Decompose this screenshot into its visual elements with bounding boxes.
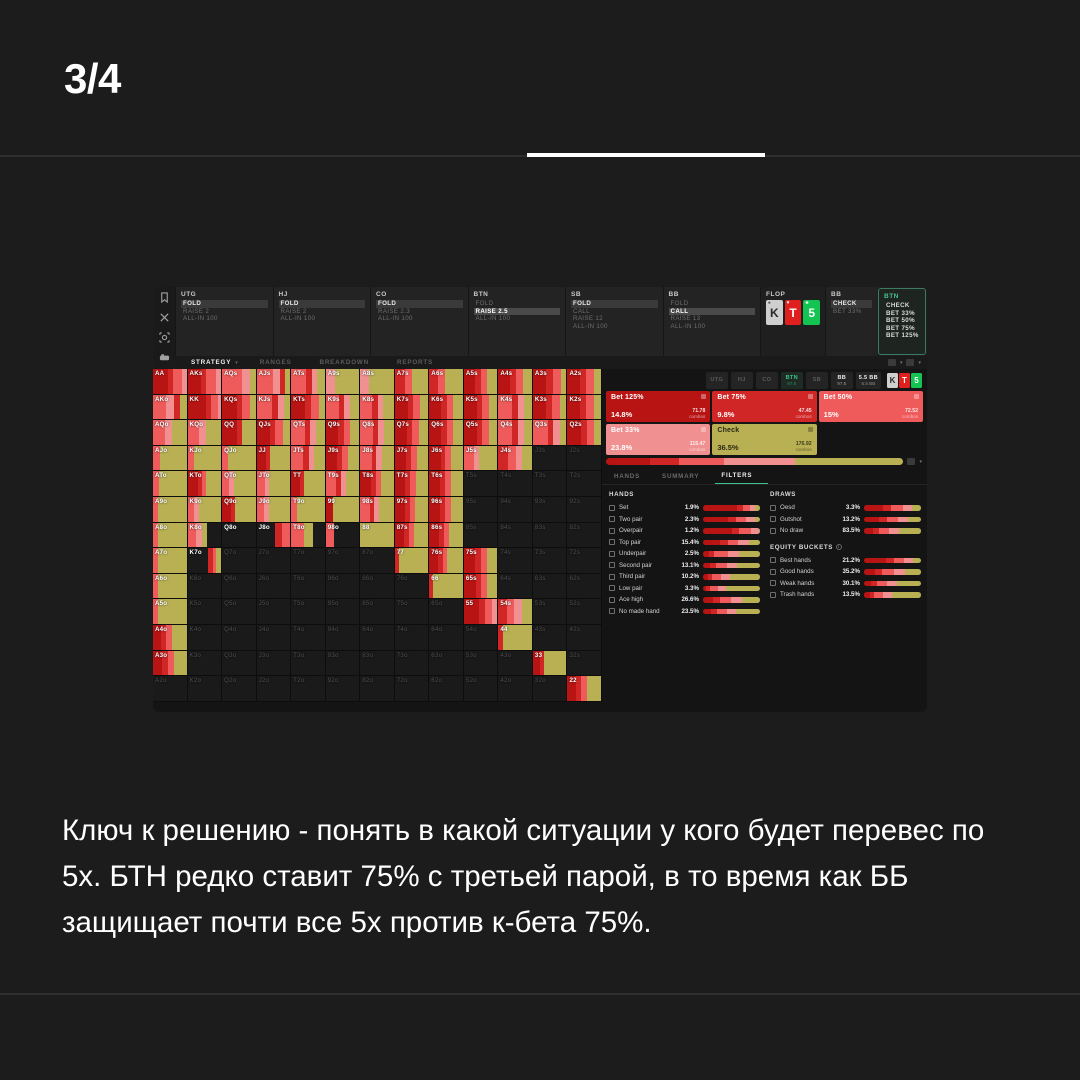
matrix-cell[interactable]: T7o (291, 548, 326, 574)
matrix-cell[interactable]: 86s (429, 523, 464, 549)
filter-row[interactable]: Underpair2.5% (609, 548, 760, 560)
action-option[interactable]: ALL-IN 100 (669, 323, 756, 331)
matrix-cell[interactable]: 74o (395, 625, 430, 651)
lock-icon[interactable] (914, 394, 919, 399)
matrix-cell[interactable]: T2s (567, 471, 602, 497)
matrix-cell[interactable]: J5s (464, 446, 499, 472)
tab-breakdown[interactable]: BREAKDOWN (305, 359, 383, 366)
matrix-cell[interactable]: A5s (464, 369, 499, 395)
action-column-title: UTG (181, 291, 268, 298)
matrix-cell[interactable]: ATo (153, 471, 188, 497)
matrix-cell[interactable]: 87o (360, 548, 395, 574)
matrix-cell[interactable]: Q4s (498, 420, 533, 446)
matrix-cell[interactable]: 33 (533, 651, 568, 677)
action-option[interactable]: RAISE 2.5 (474, 308, 561, 316)
matrix-cell[interactable]: J6s (429, 446, 464, 472)
matrix-cell[interactable]: 72s (567, 548, 602, 574)
action-option[interactable]: BET 33% (831, 308, 872, 316)
filter-label: Gutshot (780, 516, 832, 523)
matrix-cell[interactable]: 95s (464, 497, 499, 523)
position-hj[interactable]: HJ (731, 372, 753, 389)
checkbox[interactable] (609, 608, 615, 614)
matrix-cell[interactable]: 43o (498, 651, 533, 677)
matrix-cell[interactable]: 98s (360, 497, 395, 523)
matrix-cell-label: T4s (500, 472, 511, 479)
matrix-cell[interactable]: 66 (429, 574, 464, 600)
matrix-cell[interactable]: J7s (395, 446, 430, 472)
suit-icon: ♠ (768, 301, 771, 306)
filter-row[interactable]: Gutshot13.2% (770, 514, 921, 526)
matrix-cell[interactable]: 42o (498, 676, 533, 702)
action-option[interactable]: CHECK (884, 302, 920, 310)
position-5.5-bb[interactable]: 5.5 BB5.5 BB (856, 372, 881, 389)
matrix-cell[interactable]: J3o (257, 651, 292, 677)
bookmark-icon[interactable] (159, 292, 170, 303)
matrix-cell-label: 87s (397, 524, 408, 531)
checkbox[interactable] (609, 551, 615, 557)
matrix-cell[interactable]: 53s (533, 599, 568, 625)
hand-matrix[interactable]: AAAKsAQsAJsATsA9sA8sA7sA6sA5sA4sA3sA2sAK… (153, 369, 602, 702)
matrix-cell[interactable]: 52s (567, 599, 602, 625)
matrix-cell[interactable]: ATs (291, 369, 326, 395)
matrix-cell[interactable]: K4s (498, 395, 533, 421)
matrix-cell[interactable]: 84s (498, 523, 533, 549)
chevron-down-icon[interactable]: ▾ (900, 360, 903, 366)
strategy-block-bet50[interactable]: Bet 50%15%72.52combos (819, 391, 923, 422)
action-column-utg[interactable]: UTGFOLDRAISE 2ALL-IN 100 (175, 287, 273, 356)
footer-divider (0, 993, 1080, 995)
matrix-cell[interactable]: 72o (395, 676, 430, 702)
matrix-cell[interactable]: A8o (153, 523, 188, 549)
matrix-cell[interactable]: T2o (291, 676, 326, 702)
checkbox[interactable] (609, 562, 615, 568)
matrix-cell[interactable]: K6o (188, 574, 223, 600)
matrix-cell[interactable]: K3s (533, 395, 568, 421)
matrix-cell[interactable]: Q4o (222, 625, 257, 651)
action-option[interactable]: BET 125% (884, 332, 920, 340)
action-option[interactable]: ALL-IN 100 (571, 323, 658, 331)
lock-icon[interactable] (808, 427, 813, 432)
matrix-cell[interactable]: T7s (395, 471, 430, 497)
matrix-cell[interactable]: TT (291, 471, 326, 497)
matrix-cell[interactable]: K3o (188, 651, 223, 677)
action-column-hj[interactable]: HJFOLDRAISE 2ALL-IN 100 (273, 287, 371, 356)
view-mode-icon[interactable] (906, 359, 914, 366)
matrix-cell[interactable]: 32o (533, 676, 568, 702)
filters-hands-header: HANDS (609, 491, 760, 498)
filter-row[interactable]: No draw83.5% (770, 525, 921, 537)
matrix-cell[interactable]: Q9s (326, 420, 361, 446)
matrix-cell[interactable]: A2o (153, 676, 188, 702)
matrix-cell[interactable]: T9o (291, 497, 326, 523)
position-btn[interactable]: BTN97.5 (781, 372, 803, 389)
matrix-cell[interactable]: KQo (188, 420, 223, 446)
chevron-down-icon[interactable]: ▾ (918, 360, 921, 366)
matrix-cell[interactable]: T5o (291, 599, 326, 625)
grid-view-icon[interactable] (907, 458, 915, 465)
matrix-cell[interactable]: A5o (153, 599, 188, 625)
action-column-bb2[interactable]: BB CHECK BET 33% (825, 287, 877, 356)
target-icon[interactable] (159, 332, 170, 343)
action-option[interactable]: CHECK (831, 300, 872, 308)
matrix-cell[interactable]: 86o (360, 574, 395, 600)
matrix-cell[interactable]: A8s (360, 369, 395, 395)
matrix-cell[interactable]: 64s (498, 574, 533, 600)
matrix-cell[interactable]: A9o (153, 497, 188, 523)
checkbox[interactable] (609, 574, 615, 580)
matrix-cell[interactable]: Q9o (222, 497, 257, 523)
lock-icon[interactable] (808, 394, 813, 399)
gamepad-icon[interactable] (159, 352, 170, 363)
filter-row[interactable]: No made hand23.5% (609, 606, 760, 618)
filter-row[interactable]: Two pair2.3% (609, 514, 760, 526)
matrix-cell[interactable]: JTs (291, 446, 326, 472)
matrix-cell[interactable]: QTo (222, 471, 257, 497)
action-option[interactable]: FOLD (279, 300, 366, 308)
combos-unit: combos (689, 414, 705, 419)
matrix-cell[interactable]: QJo (222, 446, 257, 472)
filter-row[interactable]: Oesd3.3% (770, 502, 921, 514)
matrix-cell[interactable]: 83o (360, 651, 395, 677)
action-option[interactable]: FOLD (181, 300, 268, 308)
matrix-cell[interactable]: J3s (533, 446, 568, 472)
info-icon[interactable]: i (836, 544, 842, 550)
main-tabbar: STRATEGY ▾ RANGES BREAKDOWN REPORTS ▾ ▾ (153, 356, 927, 369)
matrix-cell[interactable]: 92s (567, 497, 602, 523)
matrix-cell[interactable]: A9s (326, 369, 361, 395)
position-co[interactable]: CO (756, 372, 778, 389)
action-column-bb[interactable]: BBFOLDCALLRAISE 13ALL-IN 100 (663, 287, 761, 356)
matrix-cell[interactable]: 82o (360, 676, 395, 702)
matrix-cell[interactable]: J8o (257, 523, 292, 549)
matrix-cell[interactable]: 85s (464, 523, 499, 549)
matrix-cell[interactable]: 54s (498, 599, 533, 625)
position-sb[interactable]: SB (806, 372, 828, 389)
matrix-cell[interactable]: 64o (429, 625, 464, 651)
action-option[interactable]: ALL-IN 100 (279, 315, 366, 323)
matrix-cell[interactable]: KTo (188, 471, 223, 497)
matrix-cell[interactable]: T4o (291, 625, 326, 651)
matrix-cell[interactable]: 88 (360, 523, 395, 549)
matrix-cell[interactable]: Q5o (222, 599, 257, 625)
checkbox[interactable] (609, 585, 615, 591)
matrix-cell[interactable]: 93o (326, 651, 361, 677)
matrix-cell[interactable]: T6s (429, 471, 464, 497)
action-option[interactable]: CALL (669, 308, 756, 316)
matrix-cell[interactable]: K9o (188, 497, 223, 523)
matrix-cell[interactable]: 62s (567, 574, 602, 600)
matrix-cell[interactable]: J4s (498, 446, 533, 472)
matrix-cell[interactable]: K2o (188, 676, 223, 702)
matrix-cell[interactable]: 43s (533, 625, 568, 651)
matrix-cell[interactable]: T4s (498, 471, 533, 497)
matrix-cell[interactable]: T3o (291, 651, 326, 677)
matrix-cell[interactable]: Q6o (222, 574, 257, 600)
matrix-cell[interactable]: 75o (395, 599, 430, 625)
matrix-cell-label: QJs (259, 421, 271, 428)
matrix-cell[interactable]: Q8o (222, 523, 257, 549)
matrix-cell[interactable]: Q7s (395, 420, 430, 446)
action-column-hero-btn[interactable]: BTN CHECK BET 33% BET 50% BET 75% BET 12… (878, 288, 926, 355)
subtab-filters[interactable]: FILTERS (715, 469, 768, 484)
matrix-cell[interactable]: 98o (326, 523, 361, 549)
position-stack: 5.5 BB (861, 381, 875, 386)
action-option[interactable]: FOLD (376, 300, 463, 308)
matrix-cell-label: A5s (466, 370, 478, 377)
matrix-cell-label: Q8o (224, 524, 237, 531)
matrix-cell[interactable]: 87s (395, 523, 430, 549)
suit-icon: ♥ (787, 301, 790, 306)
checkbox[interactable] (770, 569, 776, 575)
filter-row[interactable]: Weak hands30.1% (770, 578, 921, 590)
strategy-block-check[interactable]: Check36.5%176.92combos (712, 424, 816, 455)
matrix-cell[interactable]: Q8s (360, 420, 395, 446)
matrix-cell[interactable]: T5s (464, 471, 499, 497)
matrix-cell[interactable]: A3s (533, 369, 568, 395)
matrix-cell[interactable]: K8o (188, 523, 223, 549)
matrix-cell[interactable]: AKo (153, 395, 188, 421)
filter-row[interactable]: Ace high26.6% (609, 594, 760, 606)
matrix-cell[interactable]: K7o (188, 548, 223, 574)
filter-distribution-bar (864, 569, 921, 575)
matrix-cell[interactable]: K5o (188, 599, 223, 625)
matrix-cell[interactable]: KJs (257, 395, 292, 421)
action-option[interactable]: FOLD (474, 300, 561, 308)
matrix-cell[interactable]: KQs (222, 395, 257, 421)
checkbox[interactable] (770, 505, 776, 511)
lock-icon[interactable] (701, 427, 706, 432)
matrix-cell[interactable]: T3s (533, 471, 568, 497)
matrix-cell[interactable]: 32s (567, 651, 602, 677)
matrix-cell[interactable]: 76s (429, 548, 464, 574)
filter-row[interactable]: Overpair1.2% (609, 525, 760, 537)
matrix-cell-label: AKo (155, 396, 168, 403)
matrix-cell[interactable]: J2s (567, 446, 602, 472)
matrix-cell[interactable]: 73o (395, 651, 430, 677)
action-column-sb[interactable]: SBFOLDCALLRAISE 12ALL-IN 100 (565, 287, 663, 356)
action-option[interactable]: CALL (571, 308, 658, 316)
matrix-cell-label: QJo (224, 447, 237, 454)
matrix-cell[interactable]: 75s (464, 548, 499, 574)
action-option[interactable]: ALL-IN 100 (474, 315, 561, 323)
matrix-cell[interactable]: Q3o (222, 651, 257, 677)
subtab-summary[interactable]: SUMMARY (656, 470, 715, 484)
matrix-cell[interactable]: JTo (257, 471, 292, 497)
strategy-distribution-bar[interactable] (606, 458, 903, 465)
matrix-cell[interactable]: Q2s (567, 420, 602, 446)
matrix-cell[interactable]: JJ (257, 446, 292, 472)
filter-row[interactable]: Good hands35.2% (770, 566, 921, 578)
matrix-cell[interactable]: Q5s (464, 420, 499, 446)
checkbox[interactable] (609, 528, 615, 534)
matrix-cell[interactable]: 97o (326, 548, 361, 574)
lock-icon[interactable] (701, 394, 706, 399)
matrix-cell[interactable]: 65s (464, 574, 499, 600)
tab-reports[interactable]: REPORTS (383, 359, 447, 366)
matrix-cell[interactable]: A4s (498, 369, 533, 395)
matrix-cell[interactable]: 85o (360, 599, 395, 625)
matrix-cell[interactable]: 77 (395, 548, 430, 574)
matrix-cell[interactable]: J5o (257, 599, 292, 625)
close-icon[interactable] (159, 312, 170, 323)
matrix-cell[interactable]: AKs (188, 369, 223, 395)
action-option[interactable]: RAISE 2.3 (376, 308, 463, 316)
checkbox[interactable] (770, 528, 776, 534)
matrix-cell[interactable]: Q2o (222, 676, 257, 702)
subtab-hands[interactable]: HANDS (608, 470, 656, 484)
matrix-cell[interactable]: 94s (498, 497, 533, 523)
matrix-cell[interactable]: AA (153, 369, 188, 395)
checkbox[interactable] (770, 580, 776, 586)
matrix-cell[interactable]: J2o (257, 676, 292, 702)
chevron-down-icon[interactable]: ▾ (919, 459, 922, 465)
action-option[interactable]: BET 33% (884, 310, 920, 318)
matrix-cell[interactable]: 95o (326, 599, 361, 625)
matrix-cell[interactable]: A7s (395, 369, 430, 395)
action-option[interactable]: ALL-IN 100 (376, 315, 463, 323)
strategy-block-bet75[interactable]: Bet 75%9.8%47.45combos (712, 391, 816, 422)
matrix-cell-label: A3o (155, 652, 167, 659)
matrix-cell[interactable]: A6s (429, 369, 464, 395)
checkbox[interactable] (770, 592, 776, 598)
action-option[interactable]: RAISE 2 (279, 308, 366, 316)
filter-row[interactable]: Best hands21.2% (770, 555, 921, 567)
matrix-cell[interactable]: AQs (222, 369, 257, 395)
action-option[interactable]: ALL-IN 100 (181, 315, 268, 323)
matrix-cell[interactable]: 84o (360, 625, 395, 651)
matrix-cell[interactable]: 83s (533, 523, 568, 549)
matrix-cell-label: J7s (397, 447, 408, 454)
strategy-block-bet33[interactable]: Bet 33%23.8%115.47combos (606, 424, 710, 455)
matrix-cell[interactable]: J7o (257, 548, 292, 574)
matrix-cell[interactable]: 73s (533, 548, 568, 574)
matrix-cell[interactable]: 76o (395, 574, 430, 600)
strategy-blocks[interactable]: Bet 125%14.8%71.78combosBet 75%9.8%47.45… (606, 391, 923, 455)
matrix-cell[interactable]: J9o (257, 497, 292, 523)
matrix-cell[interactable]: K7s (395, 395, 430, 421)
matrix-cell[interactable]: QJs (257, 420, 292, 446)
matrix-cell[interactable]: J9s (326, 446, 361, 472)
matrix-cell[interactable]: 22 (567, 676, 602, 702)
action-option[interactable]: FOLD (571, 300, 658, 308)
position-bb[interactable]: BB97.5 (831, 372, 853, 389)
matrix-cell[interactable]: K2s (567, 395, 602, 421)
checkbox[interactable] (609, 505, 615, 511)
action-option[interactable]: RAISE 12 (571, 315, 658, 323)
matrix-cell[interactable]: J8s (360, 446, 395, 472)
matrix-cell[interactable]: J6o (257, 574, 292, 600)
matrix-cell[interactable]: KK (188, 395, 223, 421)
chevron-down-icon[interactable]: ▾ (235, 360, 238, 366)
action-option[interactable]: RAISE 13 (669, 315, 756, 323)
filter-icon[interactable] (888, 359, 896, 366)
checkbox[interactable] (770, 516, 776, 522)
matrix-cell[interactable]: K9s (326, 395, 361, 421)
matrix-cell[interactable]: KJo (188, 446, 223, 472)
matrix-cell-label: KQo (190, 421, 204, 428)
strategy-block-bet125[interactable]: Bet 125%14.8%71.78combos (606, 391, 710, 422)
matrix-cell[interactable]: T8o (291, 523, 326, 549)
matrix-cell[interactable]: 65o (429, 599, 464, 625)
matrix-cell[interactable]: AQo (153, 420, 188, 446)
checkbox[interactable] (609, 539, 615, 545)
checkbox[interactable] (609, 597, 615, 603)
filter-row[interactable]: Trash hands13.5% (770, 589, 921, 601)
checkbox[interactable] (609, 516, 615, 522)
matrix-cell[interactable]: 54o (464, 625, 499, 651)
matrix-cell[interactable]: 99 (326, 497, 361, 523)
matrix-cell[interactable]: K5s (464, 395, 499, 421)
filter-row[interactable]: Set1.9% (609, 502, 760, 514)
matrix-cell[interactable]: K4o (188, 625, 223, 651)
matrix-cell[interactable]: 96s (429, 497, 464, 523)
filter-row[interactable]: Top pair15.4% (609, 537, 760, 549)
position-utg[interactable]: UTG (706, 372, 728, 389)
filter-row[interactable]: Low pair3.3% (609, 583, 760, 595)
action-column-btn[interactable]: BTNFOLDRAISE 2.5ALL-IN 100 (468, 287, 566, 356)
matrix-cell[interactable]: 52o (464, 676, 499, 702)
action-column-co[interactable]: COFOLDRAISE 2.3ALL-IN 100 (370, 287, 468, 356)
matrix-cell[interactable]: 63o (429, 651, 464, 677)
filter-distribution-bar (864, 517, 921, 523)
matrix-cell[interactable]: QQ (222, 420, 257, 446)
matrix-cell[interactable]: A3o (153, 651, 188, 677)
matrix-cell[interactable]: K6s (429, 395, 464, 421)
matrix-cell[interactable]: J4o (257, 625, 292, 651)
filter-row[interactable]: Second pair13.1% (609, 560, 760, 572)
matrix-cell[interactable]: 96o (326, 574, 361, 600)
matrix-cell[interactable]: A4o (153, 625, 188, 651)
action-option[interactable]: BET 50% (884, 317, 920, 325)
matrix-cell[interactable]: KTs (291, 395, 326, 421)
action-option[interactable]: RAISE 2 (181, 308, 268, 316)
matrix-cell-label: 65s (466, 575, 477, 582)
matrix-cell[interactable]: 92o (326, 676, 361, 702)
matrix-cell[interactable]: 93s (533, 497, 568, 523)
action-option[interactable]: BET 75% (884, 325, 920, 333)
action-option[interactable]: FOLD (669, 300, 756, 308)
matrix-cell[interactable]: AJs (257, 369, 292, 395)
matrix-cell-label: QTo (224, 472, 237, 479)
matrix-cell[interactable]: AJo (153, 446, 188, 472)
matrix-cell[interactable]: T9s (326, 471, 361, 497)
matrix-cell[interactable]: Q7o (222, 548, 257, 574)
matrix-cell[interactable]: 53o (464, 651, 499, 677)
checkbox[interactable] (770, 557, 776, 563)
matrix-cell[interactable]: QTs (291, 420, 326, 446)
tab-ranges[interactable]: RANGES (246, 359, 306, 366)
matrix-cell[interactable]: K8s (360, 395, 395, 421)
matrix-cell[interactable]: 74s (498, 548, 533, 574)
matrix-cell[interactable]: 63s (533, 574, 568, 600)
filter-row[interactable]: Third pair10.2% (609, 571, 760, 583)
strategy-block-name: Bet 125% (611, 394, 705, 401)
matrix-cell[interactable]: Q3s (533, 420, 568, 446)
matrix-cell[interactable]: A6o (153, 574, 188, 600)
matrix-cell[interactable]: Q6s (429, 420, 464, 446)
matrix-cell[interactable]: 82s (567, 523, 602, 549)
matrix-cell[interactable]: 42s (567, 625, 602, 651)
matrix-cell[interactable]: 62o (429, 676, 464, 702)
matrix-cell[interactable]: T6o (291, 574, 326, 600)
matrix-cell[interactable]: 55 (464, 599, 499, 625)
matrix-cell[interactable]: T8s (360, 471, 395, 497)
matrix-cell[interactable]: 97s (395, 497, 430, 523)
matrix-cell[interactable]: A2s (567, 369, 602, 395)
matrix-cell[interactable]: 94o (326, 625, 361, 651)
matrix-cell[interactable]: 44 (498, 625, 533, 651)
matrix-cell[interactable]: A7o (153, 548, 188, 574)
